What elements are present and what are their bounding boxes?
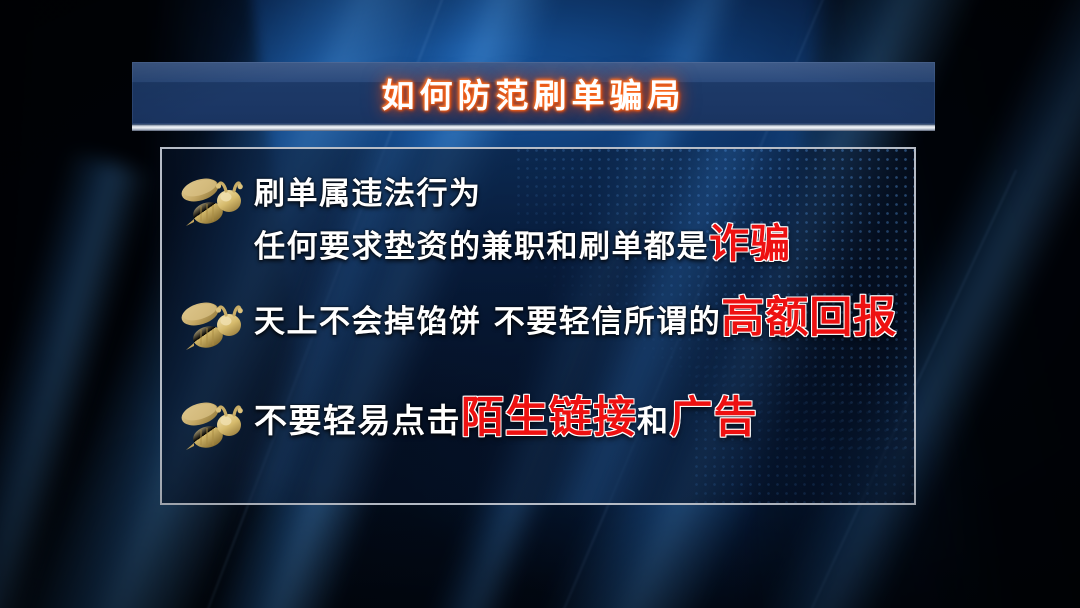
list-item: 刷单属违法行为 任何要求垫资的兼职和刷单都是诈骗 — [174, 167, 791, 272]
bee-icon — [174, 293, 246, 357]
bullet-2-line-1: 天上不会掉馅饼 不要轻信所谓的高额回报 — [254, 293, 897, 347]
bee-icon — [174, 169, 246, 233]
page-title: 如何防范刷单骗局 — [132, 62, 935, 124]
title-underline-bar — [132, 124, 935, 131]
bullet-1-line-2-red-text: 诈骗 — [709, 221, 791, 267]
list-item-text: 不要轻易点击陌生链接和广告 — [254, 393, 758, 447]
title-banner: 如何防范刷单骗局 — [132, 62, 935, 124]
bullet-3-line-1: 不要轻易点击陌生链接和广告 — [254, 393, 758, 447]
content-panel: 刷单属违法行为 任何要求垫资的兼职和刷单都是诈骗 — [160, 147, 916, 505]
list-item-text: 刷单属违法行为 任何要求垫资的兼职和刷单都是诈骗 — [254, 169, 791, 272]
list-item-text: 天上不会掉馅饼 不要轻信所谓的高额回报 — [254, 293, 897, 347]
bullet-1-line-2-white-text: 任何要求垫资的兼职和刷单都是 — [254, 229, 709, 265]
bullet-1-line-1-text: 刷单属违法行为 — [254, 176, 482, 212]
bullet-1-line-1: 刷单属违法行为 — [254, 169, 791, 219]
bullet-1-line-2: 任何要求垫资的兼职和刷单都是诈骗 — [254, 219, 791, 272]
bullet-3-white-text-1: 不要轻易点击 — [254, 401, 461, 440]
bullet-3-red-text-2: 广告 — [670, 393, 758, 443]
bullet-3-red-text-1: 陌生链接 — [461, 393, 637, 443]
bee-icon — [174, 393, 246, 457]
bullet-2-white-text: 天上不会掉馅饼 不要轻信所谓的 — [254, 304, 721, 340]
broadcast-slide: 如何防范刷单骗局 — [0, 0, 1080, 608]
bullet-2-red-text: 高额回报 — [721, 293, 897, 343]
bullet-3-white-text-2: 和 — [637, 404, 670, 440]
list-item: 不要轻易点击陌生链接和广告 — [174, 391, 758, 457]
list-item: 天上不会掉馅饼 不要轻信所谓的高额回报 — [174, 291, 897, 357]
